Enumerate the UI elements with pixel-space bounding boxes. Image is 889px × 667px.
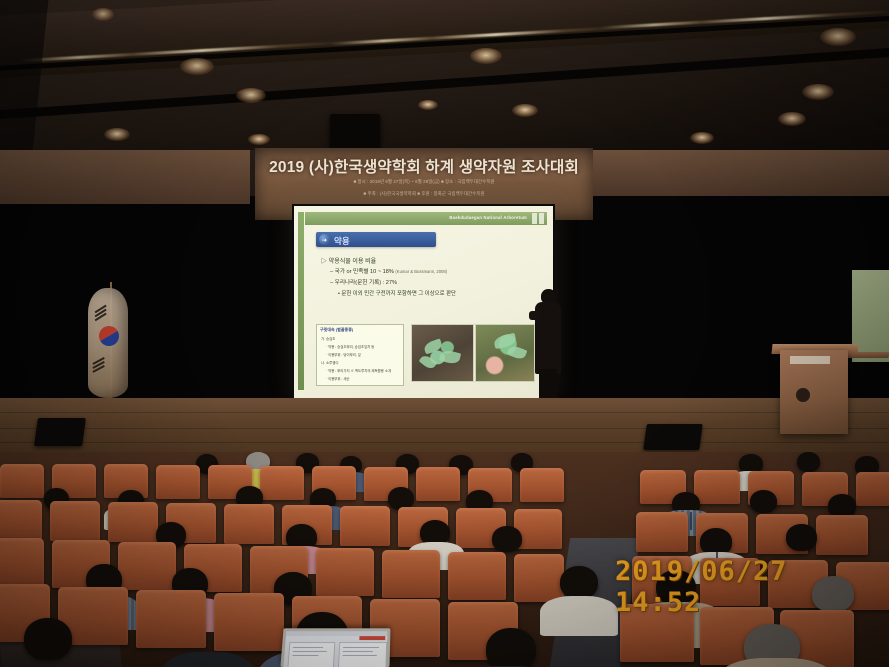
seat[interactable] — [340, 506, 390, 546]
stage-monitor-speaker-right — [643, 424, 703, 450]
seat[interactable] — [118, 542, 176, 590]
downlight-icon — [248, 134, 270, 145]
info-box-title: 구릿대속 (벌꿀종류) — [320, 327, 353, 333]
audience-head — [786, 524, 817, 551]
audience-head — [797, 452, 820, 472]
info-box-line: · 이용부위 : 새순 — [326, 376, 350, 381]
lanyard-icon — [690, 512, 692, 530]
slide-bullet-2: – 국가 or 민족별 10 ~ 18% (Kumar & Bussmann, … — [330, 267, 447, 275]
audience-torso — [540, 596, 618, 636]
arboretum-logo-icon — [539, 213, 544, 224]
plant-photo-right — [475, 324, 535, 382]
seat[interactable] — [50, 501, 100, 541]
projection-screen: Baekdudaegan National Arboretum ➔ 약용 ▷ 약… — [292, 204, 555, 400]
laptop[interactable] — [280, 628, 390, 667]
seat[interactable] — [108, 502, 158, 542]
seat[interactable] — [448, 552, 506, 600]
audience-head — [486, 628, 536, 667]
seat[interactable] — [856, 472, 889, 506]
info-box-line: · 약용 : 뿌리가지 ※ 백도루치의 제독활용 소개 — [326, 368, 391, 373]
slide-citation: (Kumar & Bussmann, 2008) — [395, 269, 447, 274]
wall-upper-right — [590, 150, 889, 196]
seat[interactable] — [514, 554, 564, 602]
audience-head — [560, 566, 598, 599]
downlight-icon — [778, 112, 806, 126]
seat[interactable] — [260, 466, 304, 500]
downlight-icon — [820, 28, 856, 46]
seat[interactable] — [214, 593, 284, 651]
downlight-icon — [512, 104, 538, 117]
banner-title: 2019 (사)한국생약학회 하계 생약자원 조사대회 — [255, 155, 593, 177]
downlight-icon — [92, 8, 114, 21]
seat[interactable] — [416, 467, 460, 501]
slide-header-org: Baekdudaegan National Arboretum — [449, 215, 527, 220]
presentation-slide: Baekdudaegan National Arboretum ➔ 약용 ▷ 약… — [294, 206, 553, 398]
slide-bullet-1: ▷ 약용식물 이용 비율 — [321, 256, 376, 265]
downlight-icon — [180, 58, 214, 75]
audience-head — [750, 490, 777, 513]
seat[interactable] — [636, 512, 688, 552]
stage-floor — [0, 398, 889, 460]
slide-info-box: 구릿대속 (벌꿀종류) 가. 승검초 · 약용 : 승검초뿌리, 승검초잎차 등… — [316, 324, 404, 386]
seat[interactable] — [0, 538, 44, 586]
info-box-line: 가. 승검초 — [321, 336, 335, 341]
ceiling-corner-shadow — [0, 0, 49, 165]
downlight-icon — [690, 132, 714, 144]
banner-line-1: ■ 일시 : 2019년 6월 27일(목) ~ 6월 28일(금) ■ 장소 … — [255, 179, 593, 185]
seat[interactable] — [0, 464, 44, 498]
slide-bullet-4: • 문헌 이외 민간 구전까지 포함하면 그 이상으로 판단 — [338, 289, 456, 297]
downlight-icon — [470, 48, 502, 64]
info-box-line: · 이용부위 : 덩이뿌리, 잎 — [326, 352, 361, 357]
info-box-line: 나. 소루쟁이 — [321, 360, 338, 365]
downlight-icon — [802, 84, 834, 100]
seat[interactable] — [136, 590, 206, 648]
podium-emblem-icon — [796, 388, 810, 402]
plant-photo-left — [411, 324, 474, 382]
seat[interactable] — [156, 465, 200, 499]
seat[interactable] — [382, 550, 440, 598]
seat[interactable] — [0, 500, 42, 540]
presenter-arm — [529, 311, 541, 320]
seat[interactable] — [224, 504, 274, 544]
banner-line-2: ■ 주최 : (사)한국국생약학회 ■ 후원 : 봉화군 국립백두대간수목원 — [255, 191, 593, 197]
seat[interactable] — [316, 548, 374, 596]
conference-photo: 2019 (사)한국생약학회 하계 생약자원 조사대회 ■ 일시 : 2019년… — [0, 0, 889, 667]
audience-head — [492, 526, 522, 552]
audience-head — [24, 618, 72, 660]
seat[interactable] — [694, 470, 740, 504]
seat[interactable] — [520, 468, 564, 502]
laptop-accent-bar — [359, 636, 385, 640]
seat[interactable] — [816, 515, 868, 555]
ceiling-panel-upper — [0, 0, 889, 79]
slide-title: 약용 — [334, 235, 350, 247]
presenter-silhouette — [535, 289, 563, 411]
taeguk-symbol-icon — [99, 326, 119, 346]
downlight-icon — [236, 88, 266, 103]
arboretum-logo-icon — [532, 213, 537, 224]
ceiling — [0, 0, 889, 165]
audience-torso — [160, 652, 256, 667]
arrow-icon: ➔ — [322, 238, 327, 244]
wall-upper-left — [0, 150, 250, 204]
downlight-icon — [104, 128, 130, 141]
stage-monitor-speaker-left — [34, 418, 86, 446]
slide-bullet-3: – 우리나라(문헌 기록) : 27% — [330, 278, 397, 286]
slide-left-accent-bar — [298, 212, 304, 390]
downlight-icon — [418, 100, 438, 110]
podium-name-plate — [790, 356, 830, 364]
laptop-screen — [283, 631, 387, 667]
info-box-line: · 약용 : 승검초뿌리, 승검초잎차 등 — [326, 344, 374, 349]
camera-timestamp: 2019/06/27 14:52 — [615, 556, 889, 618]
